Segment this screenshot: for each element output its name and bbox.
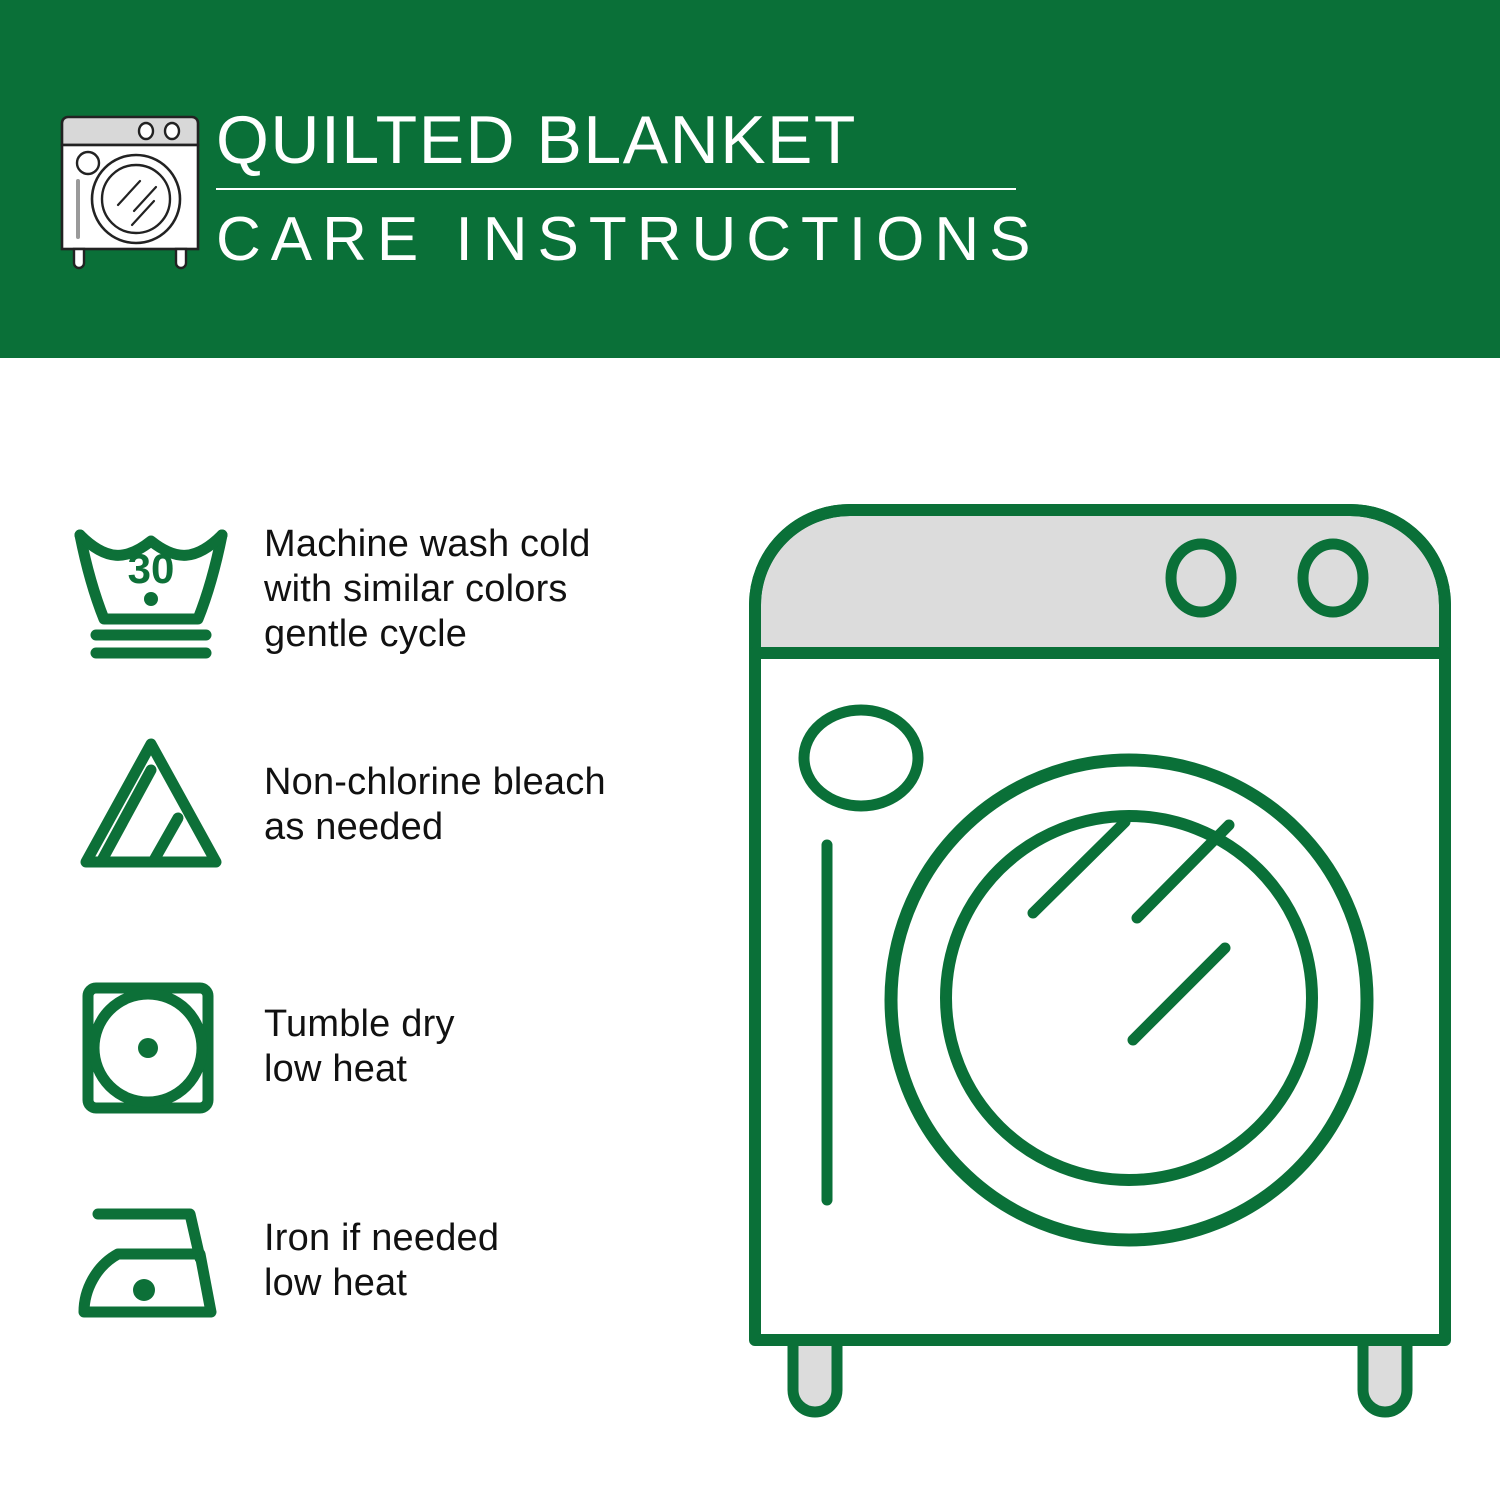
front-load-washing-machine-illustration [745,500,1455,1420]
drum-inner-ring [946,816,1312,1180]
care-label-bleach: Non-chlorine bleach as needed [246,760,606,850]
leg-left [793,1340,837,1412]
care-instructions-infographic: QUILTED BLANKET CARE INSTRUCTIONS 30 Mac… [0,0,1500,1500]
care-row-iron: Iron if needed low heat [66,1178,706,1343]
care-label-iron: Iron if needed low heat [246,1216,499,1306]
care-label-tumble-dry: Tumble dry low heat [246,1002,455,1092]
care-row-tumble-dry: Tumble dry low heat [66,962,706,1132]
header-text-block: QUILTED BLANKET CARE INSTRUCTIONS [216,100,1026,276]
drum-outer-ring [891,760,1367,1240]
care-row-bleach: Non-chlorine bleach as needed [66,722,706,887]
washing-machine-icon [60,103,200,271]
wash-temperature-value: 30 [128,545,175,592]
knob-right [1303,544,1363,612]
page-title: QUILTED BLANKET [216,100,1026,180]
knob-left [1171,544,1231,612]
header-band: QUILTED BLANKET CARE INSTRUCTIONS [0,0,1500,358]
tumble-dry-low-icon [66,972,246,1122]
page-subtitle: CARE INSTRUCTIONS [216,204,1026,276]
detergent-dispenser [804,710,918,806]
care-row-machine-wash: 30 Machine wash cold with similar colors… [66,502,706,677]
iron-low-heat-icon [66,1186,246,1336]
care-label-machine-wash: Machine wash cold with similar colors ge… [246,522,591,657]
non-chlorine-bleach-triangle-icon [66,730,246,880]
leg-right [1363,1340,1407,1412]
motion-lines [1033,822,1229,1040]
wash-tub-30-gentle-icon: 30 [66,515,246,665]
title-divider [216,188,1016,190]
